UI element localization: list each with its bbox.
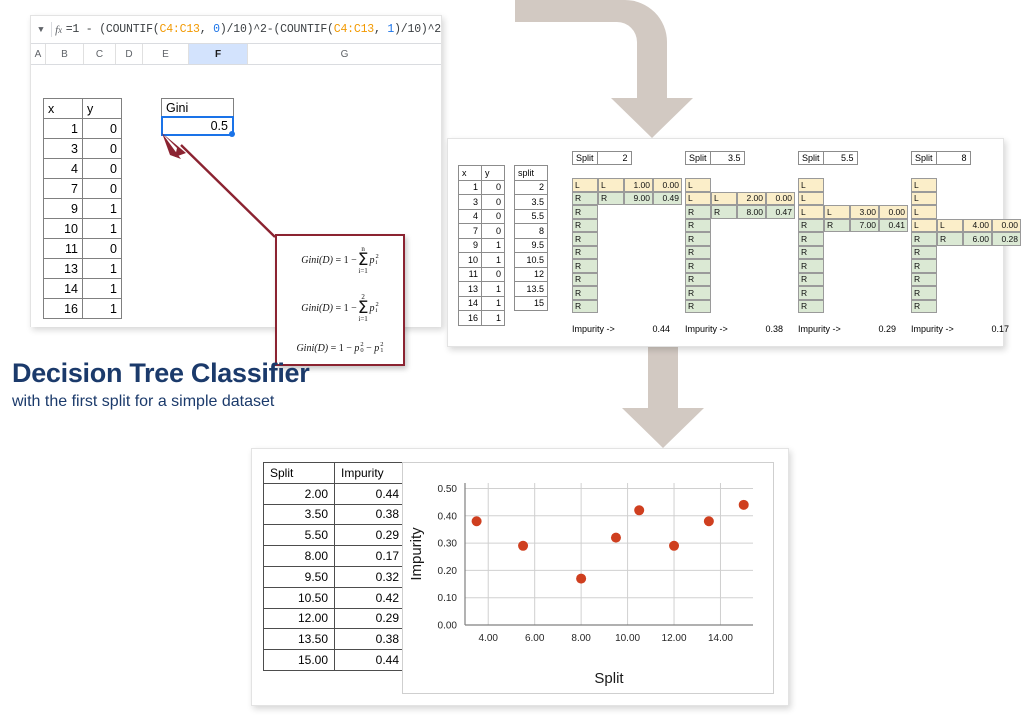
cell-x[interactable]: 7 [44, 179, 83, 199]
cell-x: 9 [459, 238, 482, 253]
formula-part-1: =1 - (COUNTIF( [66, 23, 160, 36]
lr-row: L [911, 192, 1021, 206]
cell-split: 13.5 [515, 282, 548, 297]
lr-cell-l: L [685, 192, 711, 206]
formula-bar[interactable]: ▼ fx =1 - (COUNTIF(C4:C13, 0)/10)^2-(COU… [31, 16, 441, 44]
table-row[interactable]: 70 [44, 179, 122, 199]
lr-row: R [572, 219, 682, 233]
lr-cell-r: R [572, 192, 598, 206]
impurity-value: 0.17 [969, 324, 1009, 334]
lr-row: LL4.000.00 [911, 219, 1021, 233]
splits-panel: x y 10 30 40 70 91 101 110 131 141 161 s… [447, 138, 1004, 347]
summary-count: 4.00 [963, 219, 992, 233]
lr-cell-l: L [911, 219, 937, 233]
x-tick-label: 8.00 [571, 633, 591, 644]
table-row[interactable]: 131 [44, 259, 122, 279]
cell-impurity: 0.29 [335, 525, 406, 546]
lr-row: L [798, 178, 908, 192]
fx-icon: fx [52, 24, 66, 36]
summary-count: 7.00 [850, 219, 879, 233]
table-row: 5.500.29 [264, 525, 406, 546]
x-axis-title: Split [594, 670, 624, 687]
lr-row: R [685, 286, 795, 300]
summary-side: L [937, 219, 963, 233]
summary-side: L [598, 178, 624, 192]
lr-cell-r: R [685, 232, 711, 246]
split-header: Split3.5 [685, 151, 745, 165]
x-tick-label: 10.00 [615, 633, 640, 644]
column-header-row: A B C D E F G [31, 44, 441, 65]
formula-ref-2: C4:C13 [334, 23, 374, 36]
lr-cell-r: R [798, 246, 824, 260]
eq-arg: (D) [319, 255, 333, 266]
cell-y[interactable]: 1 [83, 219, 122, 239]
table-row: 161 [459, 311, 505, 326]
cell-x[interactable]: 16 [44, 299, 83, 319]
cell-y[interactable]: 0 [83, 159, 122, 179]
lr-row: LL2.000.00 [685, 192, 795, 206]
cell-x[interactable]: 11 [44, 239, 83, 259]
page-subtitle: with the first split for a simple datase… [12, 393, 432, 411]
cell-x: 1 [459, 180, 482, 195]
lr-cell-r: R [685, 300, 711, 314]
col-y: y [83, 99, 122, 119]
gini-label: Gini [161, 98, 234, 117]
split-value: 8 [937, 151, 971, 165]
cell-y: 1 [482, 296, 505, 311]
sigma-icon: n Σ i=1 [358, 246, 369, 275]
lr-row: R [798, 273, 908, 287]
table-row[interactable]: 141 [44, 279, 122, 299]
lr-row: R [911, 273, 1021, 287]
col-header-E[interactable]: E [143, 44, 189, 64]
y-tick-label: 0.00 [438, 621, 458, 632]
formula-part-2: , [200, 23, 213, 36]
x-tick-label: 12.00 [662, 633, 687, 644]
scatter-plot-svg: 0.000.100.200.300.400.504.006.008.0010.0… [403, 463, 771, 691]
split-impurity-table: Split Impurity 2.000.44 3.500.38 5.500.2… [263, 462, 406, 671]
impurity-readout: Impurity ->0.29 [798, 324, 896, 334]
lr-cell-r: R [798, 232, 824, 246]
summary-gini: 0.00 [653, 178, 682, 192]
data-point [704, 516, 714, 526]
cell-impurity: 0.44 [335, 483, 406, 504]
x-tick-label: 14.00 [708, 633, 733, 644]
cell-x: 7 [459, 224, 482, 239]
impurity-readout: Impurity ->0.38 [685, 324, 783, 334]
splits-xy-table: x y 10 30 40 70 91 101 110 131 141 161 [458, 165, 505, 326]
lr-cell-r: R [911, 246, 937, 260]
lr-assignment-grid: LL1.000.00RR9.000.49RRRRRRRR [572, 178, 682, 313]
cell-impurity: 0.32 [335, 566, 406, 587]
table-header-row: x y [459, 166, 505, 181]
lr-cell-r: R [798, 259, 824, 273]
cell-split: 3.50 [264, 504, 335, 525]
lr-cell-r: R [572, 273, 598, 287]
lr-row: L [798, 192, 908, 206]
table-row[interactable]: 91 [44, 199, 122, 219]
formula-part-3: )/10)^2-(COUNTIF( [220, 23, 334, 36]
table-row[interactable]: 161 [44, 299, 122, 319]
eq-minus: − [366, 343, 372, 354]
lr-row: R [572, 246, 682, 260]
split-group-5.5: Split5.5LLLL3.000.00RR7.000.41RRRRRR [798, 151, 858, 165]
cell-impurity: 0.38 [335, 629, 406, 650]
table-row[interactable]: 10 [44, 119, 122, 139]
table-row: 10 [459, 180, 505, 195]
summary-side: L [824, 205, 850, 219]
lr-row: R [572, 286, 682, 300]
cell-x[interactable]: 10 [44, 219, 83, 239]
cell-x[interactable]: 1 [44, 119, 83, 139]
table-row: 110 [459, 267, 505, 282]
table-row: 30 [459, 195, 505, 210]
table-row: 12 [515, 267, 548, 282]
col-header-B[interactable]: B [46, 44, 84, 64]
table-row[interactable]: 40 [44, 159, 122, 179]
table-row: 101 [459, 253, 505, 268]
lr-cell-r: R [685, 246, 711, 260]
cell-y: 0 [482, 209, 505, 224]
cell-split: 13.50 [264, 629, 335, 650]
table-row: 91 [459, 238, 505, 253]
cell-split: 8 [515, 224, 548, 239]
summary-gini: 0.00 [879, 205, 908, 219]
col-header-G[interactable]: G [248, 44, 441, 64]
lr-cell-r: R [685, 259, 711, 273]
data-point [611, 533, 621, 543]
cell-y[interactable]: 1 [83, 259, 122, 279]
summary-count: 9.00 [624, 192, 653, 206]
lr-row: RR9.000.49 [572, 192, 682, 206]
table-row: 40 [459, 209, 505, 224]
p-term: p [369, 303, 374, 314]
lr-row: L [911, 205, 1021, 219]
cell-x: 14 [459, 296, 482, 311]
cell-x: 3 [459, 195, 482, 210]
split-value: 3.5 [711, 151, 745, 165]
lr-row: RR7.000.41 [798, 219, 908, 233]
lr-assignment-grid: LLL2.000.00RR8.000.47RRRRRRR [685, 178, 795, 313]
gini-equation-1: Gini(D) = 1 − n Σ i=1 p2i [301, 246, 378, 275]
formula-part-5: )/10)^2 [394, 23, 441, 36]
col-header-D[interactable]: D [116, 44, 143, 64]
formula-input[interactable]: =1 - (COUNTIF(C4:C13, 0)/10)^2-(COUNTIF(… [66, 23, 441, 36]
formula-part-4: , [374, 23, 387, 36]
cell-impurity: 0.44 [335, 650, 406, 671]
lr-cell-r: R [798, 300, 824, 314]
cell-impurity: 0.38 [335, 504, 406, 525]
spreadsheet-panel: ▼ fx =1 - (COUNTIF(C4:C13, 0)/10)^2-(COU… [30, 15, 442, 327]
lr-row: R [911, 286, 1021, 300]
cell-split: 10.5 [515, 253, 548, 268]
lr-cell-r: R [572, 232, 598, 246]
data-point [437, 500, 447, 510]
table-row: 3.5 [515, 195, 548, 210]
gini-cell-group: Gini 0.5 [161, 98, 234, 136]
impurity-scatter-chart: 0.000.100.200.300.400.504.006.008.0010.0… [402, 462, 774, 694]
lr-row: R [572, 232, 682, 246]
p-sub: i [375, 308, 378, 314]
lr-cell-l: L [911, 192, 937, 206]
col-x: x [44, 99, 83, 119]
split-header: Split8 [911, 151, 971, 165]
lr-cell-r: R [911, 273, 937, 287]
split-header: Split2 [572, 151, 632, 165]
gini-equation-3: Gini(D) = 1 − p20 − p21 [296, 342, 383, 354]
lr-row: R [572, 205, 682, 219]
cell-y: 0 [482, 180, 505, 195]
col-split: split [515, 166, 548, 181]
cell-x[interactable]: 9 [44, 199, 83, 219]
chevron-down-icon[interactable]: ▼ [31, 25, 51, 35]
result-panel: Split Impurity 2.000.44 3.500.38 5.500.2… [251, 448, 789, 706]
cell-y: 1 [482, 238, 505, 253]
formula-ref-1: C4:C13 [160, 23, 200, 36]
lr-row: R [572, 273, 682, 287]
lr-cell-r: R [572, 300, 598, 314]
cell-x[interactable]: 14 [44, 279, 83, 299]
summary-count: 6.00 [963, 232, 992, 246]
cell-split: 12 [515, 267, 548, 282]
lr-row: L [685, 178, 795, 192]
lr-cell-l: L [572, 178, 598, 192]
cell-y[interactable]: 0 [83, 179, 122, 199]
lr-row: R [798, 300, 908, 314]
eq-name: Gini [301, 255, 319, 266]
lr-cell-r: R [572, 259, 598, 273]
cell-x: 4 [459, 209, 482, 224]
lr-row: R [685, 273, 795, 287]
impurity-label: Impurity -> [685, 324, 743, 334]
impurity-value: 0.44 [630, 324, 670, 334]
cell-split: 15.00 [264, 650, 335, 671]
cell-y: 1 [482, 311, 505, 326]
table-row: 141 [459, 296, 505, 311]
col-split: Split [264, 463, 335, 484]
lr-row: LL1.000.00 [572, 178, 682, 192]
data-point [518, 541, 528, 551]
summary-count: 8.00 [737, 205, 766, 219]
summary-side: R [711, 205, 737, 219]
p-sub: 0 [360, 348, 363, 354]
lr-cell-r: R [798, 219, 824, 233]
lr-cell-r: R [572, 205, 598, 219]
split-group-8: Split8LLLLL4.000.00RR6.000.28RRRRR [911, 151, 971, 165]
arrow-down-icon [612, 342, 712, 452]
cell-split: 8.00 [264, 546, 335, 567]
lr-assignment-grid: LLLLL4.000.00RR6.000.28RRRRR [911, 178, 1021, 313]
impurity-readout: Impurity ->0.17 [911, 324, 1009, 334]
col-header-A[interactable]: A [31, 44, 46, 64]
split-header: Split5.5 [798, 151, 858, 165]
cell-y[interactable]: 0 [83, 139, 122, 159]
lr-cell-l: L [798, 178, 824, 192]
lr-row: R [685, 219, 795, 233]
table-row: 13.5 [515, 282, 548, 297]
impurity-readout: Impurity ->0.44 [572, 324, 670, 334]
y-tick-label: 0.40 [438, 511, 458, 522]
split-label: Split [911, 151, 937, 165]
page-title: Decision Tree Classifier [12, 358, 432, 389]
eq-arg: (D) [314, 343, 328, 354]
table-header-row: split [515, 166, 548, 181]
summary-side: R [598, 192, 624, 206]
p-sub: 1 [380, 348, 383, 354]
summary-gini: 0.28 [992, 232, 1021, 246]
cell-impurity: 0.42 [335, 587, 406, 608]
lr-cell-r: R [685, 286, 711, 300]
table-row: 10.500.42 [264, 587, 406, 608]
gini-formula-callout: Gini(D) = 1 − n Σ i=1 p2i Gini(D) = 1 − … [275, 234, 405, 366]
cell-y[interactable]: 1 [83, 299, 122, 319]
summary-gini: 0.47 [766, 205, 795, 219]
col-x: x [459, 166, 482, 181]
cell-y: 0 [482, 195, 505, 210]
formula-num-1: 0 [213, 23, 220, 36]
gini-value-cell[interactable]: 0.5 [161, 116, 234, 136]
lr-row: R [685, 300, 795, 314]
lr-row: RR8.000.47 [685, 205, 795, 219]
data-point [669, 541, 679, 551]
table-row: 131 [459, 282, 505, 297]
summary-side: R [937, 232, 963, 246]
cell-split: 9.5 [515, 238, 548, 253]
impurity-value: 0.38 [743, 324, 783, 334]
lr-row: R [572, 300, 682, 314]
split-group-3.5: Split3.5LLL2.000.00RR8.000.47RRRRRRR [685, 151, 745, 165]
col-header-F[interactable]: F [189, 44, 248, 64]
title-block: Decision Tree Classifier with the first … [12, 358, 432, 411]
lr-cell-l: L [685, 178, 711, 192]
cell-split: 10.50 [264, 587, 335, 608]
sheet-grid[interactable]: x y 10 30 40 70 91 101 110 131 141 161 G… [31, 65, 441, 327]
eq-equals: = 1 − [335, 255, 356, 266]
lr-row: R [798, 286, 908, 300]
cell-x[interactable]: 3 [44, 139, 83, 159]
lr-cell-r: R [685, 205, 711, 219]
split-label: Split [572, 151, 598, 165]
lr-row: R [911, 300, 1021, 314]
cell-x: 16 [459, 311, 482, 326]
table-row[interactable]: 30 [44, 139, 122, 159]
cell-y: 1 [482, 253, 505, 268]
table-row: 8.000.17 [264, 546, 406, 567]
summary-gini: 0.49 [653, 192, 682, 206]
data-point [576, 574, 586, 584]
x-tick-label: 4.00 [478, 633, 498, 644]
cell-x[interactable]: 4 [44, 159, 83, 179]
table-row[interactable]: 110 [44, 239, 122, 259]
cell-split: 5.50 [264, 525, 335, 546]
lr-cell-r: R [572, 286, 598, 300]
summary-gini: 0.41 [879, 219, 908, 233]
lr-row: R [911, 246, 1021, 260]
cell-x: 10 [459, 253, 482, 268]
lr-row: R [685, 232, 795, 246]
col-y: y [482, 166, 505, 181]
cell-y[interactable]: 1 [83, 279, 122, 299]
lr-assignment-grid: LLLL3.000.00RR7.000.41RRRRRR [798, 178, 908, 313]
sigma-lower: i=1 [358, 316, 367, 323]
summary-count: 3.00 [850, 205, 879, 219]
table-row: 2.000.44 [264, 483, 406, 504]
table-row: 2 [515, 180, 548, 195]
table-row: 10.5 [515, 253, 548, 268]
cell-y[interactable]: 1 [83, 199, 122, 219]
arrow-elbow-down-icon [515, 0, 705, 140]
table-row: 13.500.38 [264, 629, 406, 650]
cell-x: 13 [459, 282, 482, 297]
lr-row: L [911, 178, 1021, 192]
data-point [472, 516, 482, 526]
split-group-2: Split2LL1.000.00RR9.000.49RRRRRRRR [572, 151, 632, 165]
cell-y[interactable]: 0 [83, 119, 122, 139]
lr-cell-l: L [911, 205, 937, 219]
cell-y: 0 [482, 267, 505, 282]
lr-row: R [572, 259, 682, 273]
data-points-group [437, 500, 749, 584]
lr-cell-r: R [798, 273, 824, 287]
eq-name: Gini [301, 303, 319, 314]
lr-cell-r: R [572, 219, 598, 233]
lr-cell-r: R [798, 286, 824, 300]
cell-x[interactable]: 13 [44, 259, 83, 279]
y-tick-label: 0.30 [438, 539, 458, 550]
lr-cell-r: R [685, 219, 711, 233]
data-point [634, 505, 644, 515]
y-axis-title: Impurity [408, 527, 425, 581]
summary-count: 2.00 [737, 192, 766, 206]
y-tick-label: 0.50 [438, 484, 458, 495]
cell-split: 9.50 [264, 566, 335, 587]
table-row: 8 [515, 224, 548, 239]
cell-y[interactable]: 0 [83, 239, 122, 259]
table-row: 3.500.38 [264, 504, 406, 525]
table-header-row: x y [44, 99, 122, 119]
lr-row: R [798, 232, 908, 246]
x-tick-label: 6.00 [525, 633, 545, 644]
col-header-C[interactable]: C [84, 44, 116, 64]
impurity-label: Impurity -> [798, 324, 856, 334]
cell-y: 0 [482, 224, 505, 239]
cell-split: 5.5 [515, 209, 548, 224]
y-tick-label: 0.20 [438, 566, 458, 577]
eq-name: Gini [296, 343, 314, 354]
summary-count: 1.00 [624, 178, 653, 192]
gini-equation-2: Gini(D) = 1 − 2 Σ i=1 p2i [301, 294, 378, 323]
cell-split: 12.00 [264, 608, 335, 629]
p-term: p [369, 255, 374, 266]
summary-side: R [824, 219, 850, 233]
lr-cell-r: R [911, 259, 937, 273]
fill-handle[interactable] [229, 131, 235, 137]
lr-cell-r: R [911, 286, 937, 300]
split-value: 2 [598, 151, 632, 165]
table-row[interactable]: 101 [44, 219, 122, 239]
impurity-value: 0.29 [856, 324, 896, 334]
lr-row: R [798, 259, 908, 273]
lr-row: RR6.000.28 [911, 232, 1021, 246]
eq-equals: = 1 − [335, 303, 356, 314]
sigma-icon: 2 Σ i=1 [358, 294, 369, 323]
eq-arg: (D) [319, 303, 333, 314]
cell-x: 11 [459, 267, 482, 282]
p-term: p [374, 343, 379, 354]
split-label: Split [798, 151, 824, 165]
summary-gini: 0.00 [992, 219, 1021, 233]
table-row: 15.000.44 [264, 650, 406, 671]
